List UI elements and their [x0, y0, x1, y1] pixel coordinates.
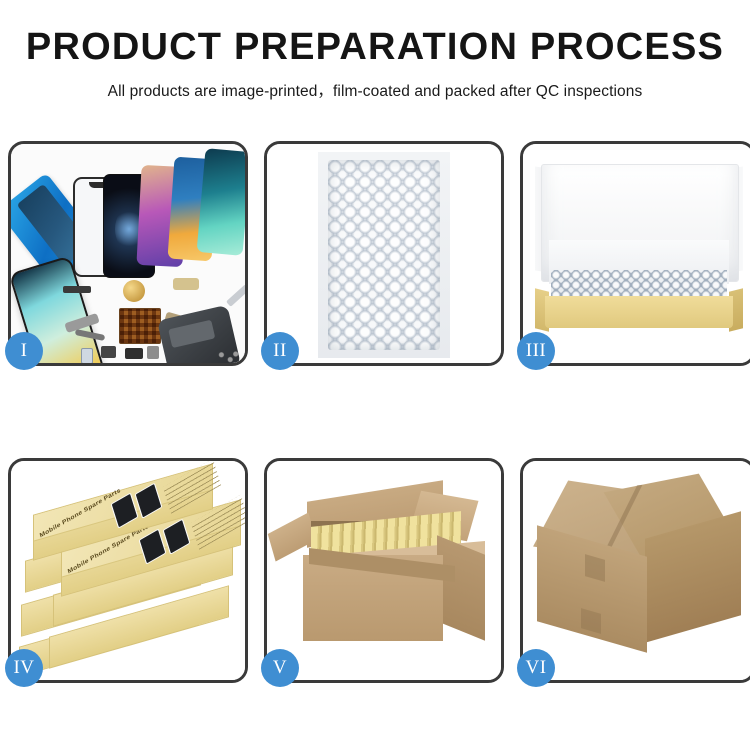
step-1-image [11, 144, 245, 363]
retail-box-stack-image: Mobile Phone Spare Parts Mobile Phone Sp… [17, 483, 245, 673]
spec-lines-image [163, 461, 221, 514]
sim-tray-image [81, 348, 93, 363]
bracket-part-image [173, 278, 199, 290]
step-5-image [267, 461, 501, 680]
step-3-image [523, 144, 750, 363]
page-subtitle: All products are image-printed，film-coat… [0, 79, 750, 101]
step-2-image [267, 144, 501, 363]
process-step-2: II [264, 141, 504, 366]
process-step-6: VI [520, 458, 750, 683]
small-part-2-image [125, 348, 143, 359]
step-4-image: Mobile Phone Spare Parts Mobile Phone Sp… [11, 461, 245, 680]
bubble-wrap-image [328, 160, 440, 350]
bar-part-image [63, 286, 91, 293]
process-step-grid: I II III [8, 141, 748, 683]
product-preparation-infographic: PRODUCT PREPARATION PROCESS All products… [0, 0, 750, 750]
page-title: PRODUCT PREPARATION PROCESS [0, 28, 750, 66]
step-badge-1: I [5, 332, 43, 370]
step-badge-4: IV [5, 649, 43, 687]
kraft-base-image [545, 296, 733, 328]
step-badge-2: II [261, 332, 299, 370]
process-step-5: V [264, 458, 504, 683]
header: PRODUCT PREPARATION PROCESS All products… [0, 0, 750, 101]
step-badge-3: III [517, 332, 555, 370]
carton-side-image [437, 535, 485, 640]
speaker-part-image [123, 280, 145, 302]
process-step-1: I [8, 141, 248, 366]
teal-phone-image [197, 148, 245, 256]
chip-grid-part-image [119, 308, 161, 344]
small-part-1-image [101, 346, 116, 358]
process-step-4: Mobile Phone Spare Parts Mobile Phone Sp… [8, 458, 248, 683]
step-badge-5: V [261, 649, 299, 687]
step-badge-6: VI [517, 649, 555, 687]
screws-image [217, 350, 239, 363]
step-6-image [523, 461, 750, 680]
small-part-3-image [147, 346, 159, 359]
process-step-3: III [520, 141, 750, 366]
